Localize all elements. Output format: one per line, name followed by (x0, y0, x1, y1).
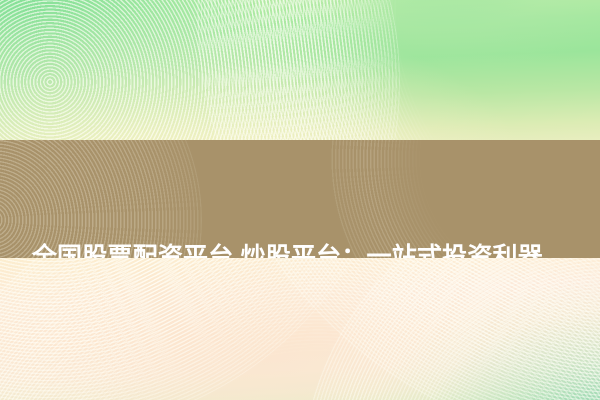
headline-line-1: 全国股票配资平台 炒股平台：一站式投资利器， (0, 237, 600, 258)
headline-text: 全国股票配资平台 炒股平台：一站式投资利器， 轻松掌握股市动态，实现财富增值！ (0, 140, 600, 258)
promo-banner: 全国股票配资平台 炒股平台：一站式投资利器， 轻松掌握股市动态，实现财富增值！ (0, 0, 600, 400)
headline-band: 全国股票配资平台 炒股平台：一站式投资利器， 轻松掌握股市动态，实现财富增值！ (0, 140, 600, 258)
